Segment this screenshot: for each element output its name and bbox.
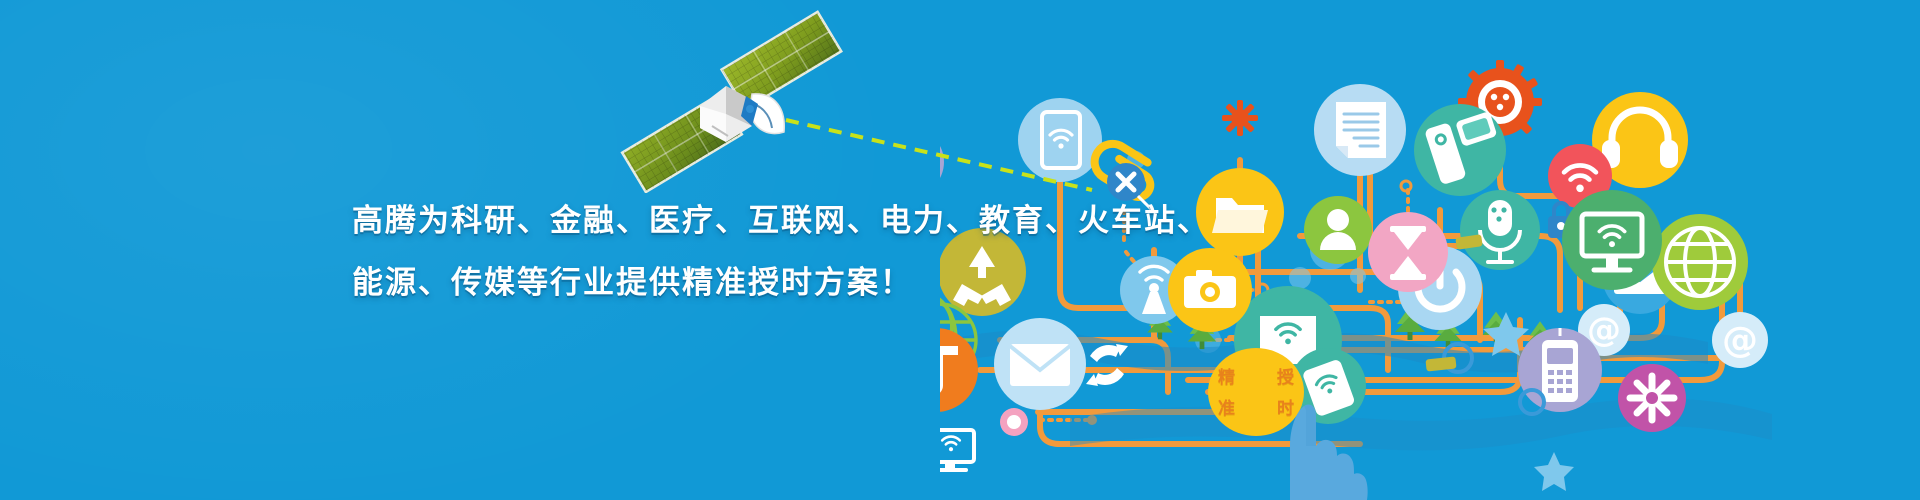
user-icon[interactable] [1304,196,1372,264]
headline-line-2: 能源、传媒等行业提供精准授时方案！ [352,252,1072,314]
desktop-wifi-icon[interactable] [940,430,974,470]
headline-line-1: 高腾为科研、金融、医疗、互联网、电力、教育、火车站、 [352,190,1072,252]
center-node-char-3: 准 [1218,400,1235,417]
remote-device-icon[interactable] [1414,104,1507,196]
globe-green-icon[interactable] [1652,214,1748,310]
mobile-phone-icon[interactable] [1518,328,1602,412]
camera-icon[interactable] [1168,248,1252,332]
at-sign-icon[interactable]: @ [1712,312,1768,368]
microphone-icon[interactable] [1460,190,1540,270]
envelope-large-icon[interactable] [994,318,1086,410]
headline-block: 高腾为科研、金融、医疗、互联网、电力、教育、火车站、 能源、传媒等行业提供精准授… [352,190,1072,314]
star-icon[interactable] [1534,452,1574,491]
svg-text:@: @ [1722,320,1758,361]
document-icon[interactable] [1314,84,1406,176]
pointing-hand [1240,350,1390,500]
gear-icon[interactable] [1222,100,1258,136]
center-node-char-1: 精 [1218,369,1235,386]
satellite-illustration [600,8,860,193]
promo-banner: 高腾为科研、金融、医疗、互联网、电力、教育、火车站、 能源、传媒等行业提供精准授… [0,0,1920,500]
monitor-wifi-icon[interactable] [1562,190,1662,290]
sparkle-icon[interactable] [1618,364,1686,432]
hourglass-icon[interactable] [1368,212,1448,292]
